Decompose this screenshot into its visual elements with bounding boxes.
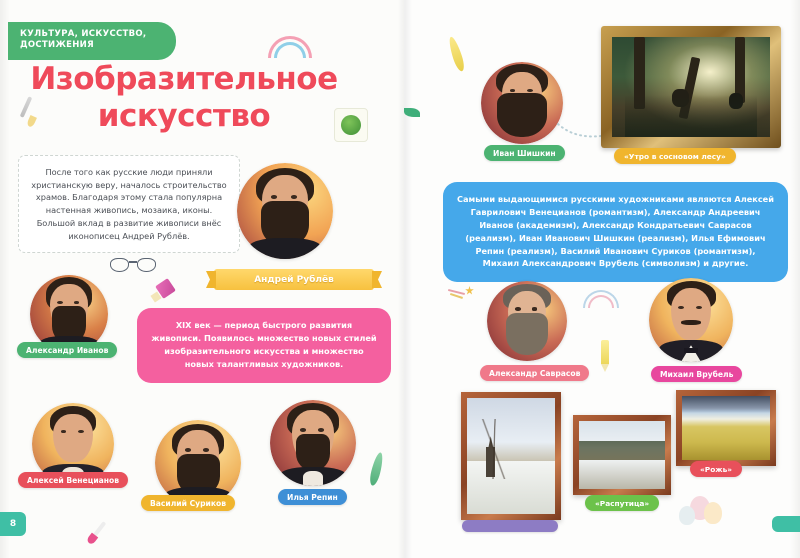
portrait-face bbox=[155, 420, 241, 506]
eye-left bbox=[185, 448, 191, 451]
beard-shape bbox=[506, 313, 548, 355]
portrait-repin bbox=[270, 400, 356, 486]
painting-art bbox=[682, 396, 770, 460]
title-line-2: искусство bbox=[14, 101, 354, 132]
painting-rozh bbox=[676, 390, 776, 466]
painting-canvas bbox=[467, 398, 555, 514]
intro-text-box: После того как русские люди приняли хрис… bbox=[18, 155, 240, 253]
label-vrubel: Михаил Врубель bbox=[651, 366, 742, 382]
eye-right bbox=[74, 301, 79, 304]
painting-art bbox=[467, 398, 555, 514]
cravat-shape bbox=[303, 471, 324, 486]
beard-shape bbox=[497, 93, 546, 137]
label-savrasov: Александр Саврасов bbox=[480, 365, 589, 381]
tree-trunk bbox=[634, 37, 645, 109]
label-shishkin: Иван Шишкин bbox=[484, 145, 565, 161]
tree-trunk bbox=[678, 57, 700, 120]
portrait-rublev bbox=[237, 163, 333, 259]
painting-spring-rooks bbox=[461, 392, 561, 520]
bear-silhouette bbox=[672, 89, 689, 107]
head-shape bbox=[671, 288, 711, 340]
page-title: Изобразительное искусство bbox=[14, 64, 354, 132]
blue-fact-box: Самыми выдающимися русскими художниками … bbox=[443, 182, 788, 282]
eye-right bbox=[291, 195, 298, 199]
beard-shape bbox=[296, 434, 330, 470]
painting-canvas bbox=[612, 37, 770, 137]
section-kicker: Культура, искусство, достижения bbox=[8, 22, 176, 60]
eye-left bbox=[515, 307, 521, 310]
eye-right bbox=[318, 428, 324, 431]
painting-canvas bbox=[579, 421, 665, 489]
page-number-tab: 8 bbox=[0, 512, 26, 536]
ribbon-label: Андрей Рублёв bbox=[254, 275, 334, 285]
eye-right bbox=[696, 306, 702, 309]
label-repin: Илья Репин bbox=[278, 489, 347, 505]
painting-morning-pine-forest bbox=[601, 26, 781, 148]
label-ivanov: Александр Иванов bbox=[17, 342, 117, 358]
portrait-savrasov bbox=[487, 281, 567, 361]
portrait-face bbox=[649, 278, 733, 362]
head-shape bbox=[53, 414, 92, 462]
label-venetsianov: Алексей Венецианов bbox=[18, 472, 128, 488]
label-surikov: Василий Суриков bbox=[141, 495, 235, 511]
eye-right bbox=[532, 307, 538, 310]
portrait-face bbox=[237, 163, 333, 259]
caption-rasputitsa: «Распутица» bbox=[585, 495, 659, 511]
eye-left bbox=[300, 428, 306, 431]
portrait-shishkin bbox=[481, 62, 563, 144]
caption-rozh: «Рожь» bbox=[690, 461, 742, 477]
painting-rasputitsa bbox=[573, 415, 671, 495]
collar-shape bbox=[249, 238, 322, 259]
church-spire-shape bbox=[488, 436, 493, 449]
caption-morning-pine-forest: «Утро в сосновом лесу» bbox=[614, 148, 736, 164]
church-shape bbox=[486, 447, 495, 477]
title-line-1: Изобразительное bbox=[14, 64, 354, 95]
portrait-vrubel bbox=[649, 278, 733, 362]
caption-spring-rooks bbox=[462, 520, 558, 532]
painting-art bbox=[612, 37, 770, 137]
eye-left bbox=[57, 301, 62, 304]
bowtie-shape bbox=[684, 348, 697, 353]
eye-left bbox=[271, 195, 278, 199]
portrait-face bbox=[270, 400, 356, 486]
portrait-face bbox=[487, 281, 567, 361]
book-spread: Культура, искусство, достижения Изобрази… bbox=[0, 0, 800, 558]
portrait-surikov bbox=[155, 420, 241, 506]
page-number: 8 bbox=[10, 519, 16, 529]
pink-fact-box: XIX век — период быстрого развития живоп… bbox=[137, 308, 391, 383]
ribbon-andrey-rublev: Андрей Рублёв bbox=[214, 269, 374, 290]
painting-art bbox=[579, 421, 665, 489]
bear-cub-silhouette bbox=[729, 93, 743, 109]
eye-right bbox=[203, 448, 209, 451]
painting-canvas bbox=[682, 396, 770, 460]
moustache-shape bbox=[681, 320, 701, 325]
portrait-face bbox=[481, 62, 563, 144]
